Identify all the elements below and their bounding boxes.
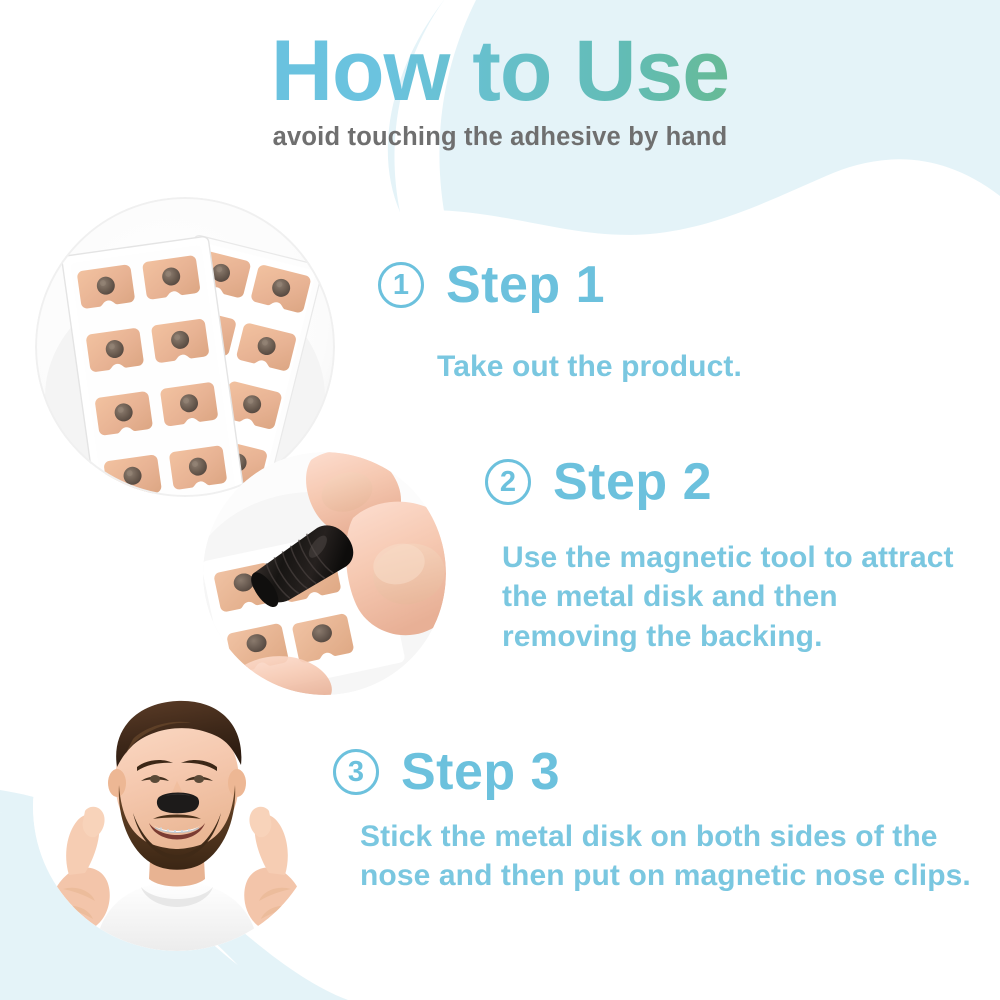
step-3-description: Stick the metal disk on both sides of th… xyxy=(360,817,985,896)
nose-clip xyxy=(157,793,199,814)
step-1-heading: 1 Step 1 xyxy=(378,255,605,315)
step-2-heading: 2 Step 2 xyxy=(485,452,712,512)
page-title: How to Use xyxy=(0,26,1000,117)
magnetic-tool-photo xyxy=(203,452,446,695)
step-2-title: Step 2 xyxy=(553,452,712,512)
step-1-number-icon: 1 xyxy=(378,262,424,308)
man-thumbs-up-photo xyxy=(33,663,321,951)
step-1-description: Take out the product. xyxy=(437,347,867,386)
patch-sheets-photo xyxy=(35,197,335,497)
step-2-number-icon: 2 xyxy=(485,459,531,505)
step-3-heading: 3 Step 3 xyxy=(333,742,560,802)
step-3-title: Step 3 xyxy=(401,742,560,802)
page-subtitle: avoid touching the adhesive by hand xyxy=(0,123,1000,152)
how-to-use-infographic: How to Use avoid touching the adhesive b… xyxy=(0,0,1000,1000)
step-2-description: Use the magnetic tool to attract the met… xyxy=(502,538,972,656)
header: How to Use avoid touching the adhesive b… xyxy=(0,26,1000,152)
step-3-number-icon: 3 xyxy=(333,749,379,795)
step-1-title: Step 1 xyxy=(446,255,605,315)
